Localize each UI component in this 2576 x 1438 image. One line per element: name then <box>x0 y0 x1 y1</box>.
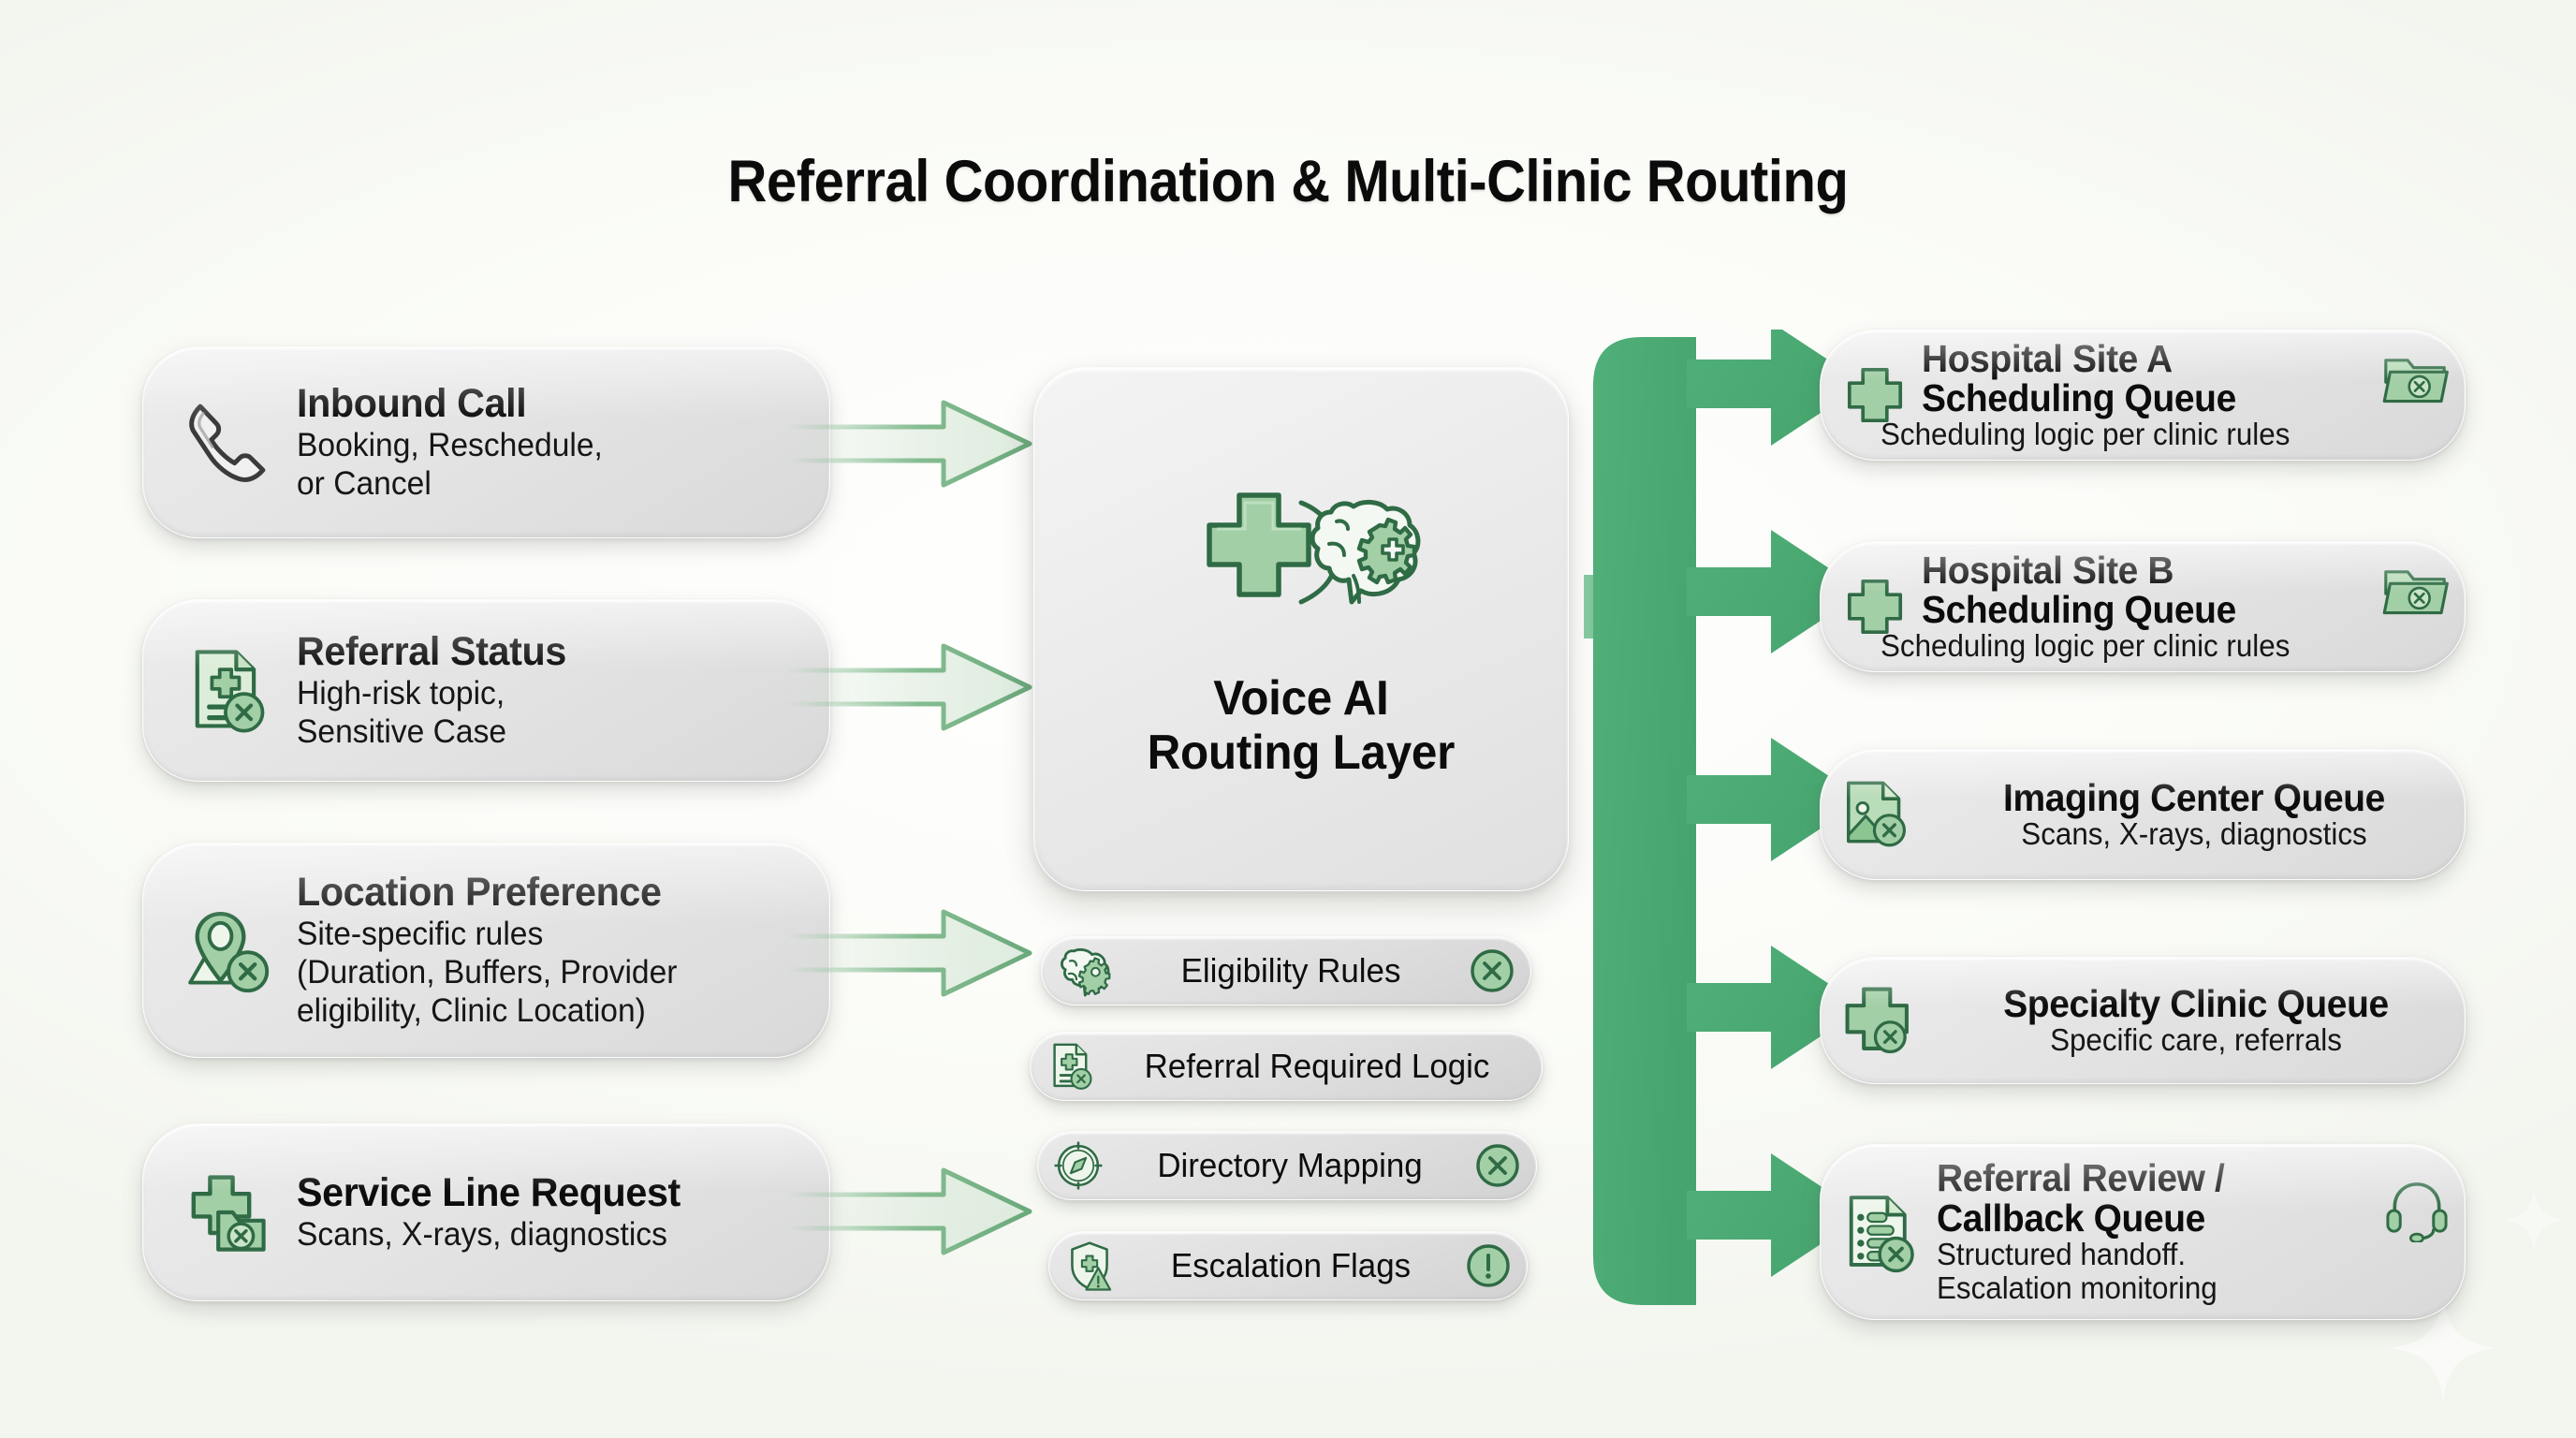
input-card-subtitle-line: eligibility, Clinic Location) <box>297 992 784 1029</box>
chip-label: Referral Required Logic <box>1114 1047 1521 1086</box>
cross-folder-x-icon <box>171 1161 282 1264</box>
input-card-subtitle-line: Sensitive Case <box>297 713 784 750</box>
output-card-referral-review-callback[interactable]: Referral Review / Callback Queue Structu… <box>1820 1144 2466 1320</box>
input-arrow-3 <box>784 901 1033 1005</box>
chip-referral-required-logic[interactable]: Referral Required Logic <box>1030 1032 1543 1101</box>
output-card-subtitle-line: Scheduling logic per clinic rules <box>1881 629 2345 663</box>
input-card-title: Inbound Call <box>297 383 784 425</box>
exclamation-circle-badge <box>1465 1242 1512 1289</box>
input-arrow-1 <box>784 391 1033 496</box>
output-card-title-line: Specialty Clinic Queue <box>1954 984 2439 1023</box>
output-card-title-line: Referral Review / <box>1937 1158 2351 1197</box>
input-card-title: Location Preference <box>297 872 784 914</box>
phone-handset-icon <box>171 392 282 493</box>
output-card-subtitle-line: Specific care, referrals <box>1954 1023 2439 1057</box>
input-card-title: Service Line Request <box>297 1172 784 1214</box>
image-document-x-icon <box>1837 775 1916 854</box>
brain-gear-icon <box>1055 942 1113 1000</box>
medical-cross-x-icon <box>1837 979 1920 1062</box>
input-card-subtitle-line: High-risk topic, <box>297 675 784 712</box>
x-circle-badge <box>1474 1142 1521 1189</box>
output-card-hospital-site-a[interactable]: Hospital Site A Scheduling Queue Schedul… <box>1820 330 2466 461</box>
folder-x-icon <box>2378 340 2452 413</box>
input-card-title: Referral Status <box>297 631 784 673</box>
input-arrow-2 <box>784 635 1033 740</box>
chip-directory-mapping[interactable]: Directory Mapping <box>1037 1131 1537 1200</box>
output-card-subtitle-line: Structured handoff. <box>1937 1238 2351 1271</box>
medical-document-x-icon <box>1044 1039 1098 1093</box>
hub-voice-ai-routing-layer[interactable]: Voice AI Routing Layer <box>1033 367 1569 891</box>
input-card-subtitle-line: Site-specific rules <box>297 916 784 952</box>
chip-label: Directory Mapping <box>1120 1146 1460 1185</box>
checklist-document-x-icon <box>1837 1189 1924 1275</box>
output-card-specialty-clinic[interactable]: Specialty Clinic Queue Specific care, re… <box>1820 957 2466 1084</box>
output-card-subtitle-line: Scans, X-rays, diagnostics <box>1950 817 2439 851</box>
output-card-title-line: Callback Queue <box>1937 1198 2351 1238</box>
chip-escalation-flags[interactable]: Escalation Flags <box>1048 1231 1528 1300</box>
shield-alert-icon <box>1062 1239 1117 1293</box>
output-card-title-line: Hospital Site B <box>1922 550 2347 590</box>
page-title: Referral Coordination & Multi-Clinic Rou… <box>103 148 2473 215</box>
hub-label-line: Routing Layer <box>1148 726 1455 780</box>
input-card-subtitle-line: Scans, X-rays, diagnostics <box>297 1216 784 1253</box>
chip-eligibility-rules[interactable]: Eligibility Rules <box>1041 936 1531 1005</box>
input-card-subtitle-line: (Duration, Buffers, Provider <box>297 954 784 990</box>
x-circle-badge <box>1469 947 1515 994</box>
output-card-title-line: Imaging Center Queue <box>1950 778 2439 817</box>
output-card-title-line: Scheduling Queue <box>1922 590 2347 629</box>
input-card-service-line-request[interactable]: Service Line Request Scans, X-rays, diag… <box>142 1123 830 1301</box>
output-card-imaging-center[interactable]: Imaging Center Queue Scans, X-rays, diag… <box>1820 749 2466 880</box>
input-card-inbound-call[interactable]: Inbound Call Booking, Reschedule, or Can… <box>142 346 830 538</box>
hub-label: Voice AI Routing Layer <box>1148 672 1455 779</box>
output-card-subtitle-line: Scheduling logic per clinic rules <box>1881 418 2345 451</box>
chip-label: Escalation Flags <box>1131 1246 1450 1285</box>
output-card-title-line: Hospital Site A <box>1922 339 2347 378</box>
map-pin-x-icon <box>171 900 282 1001</box>
headset-icon <box>2382 1173 2452 1242</box>
input-card-referral-status[interactable]: Referral Status High-risk topic, Sensiti… <box>142 599 830 782</box>
output-card-hospital-site-b[interactable]: Hospital Site B Scheduling Queue Schedul… <box>1820 541 2466 672</box>
input-card-location-preference[interactable]: Location Preference Site-specific rules … <box>142 843 830 1058</box>
compass-icon <box>1051 1138 1105 1193</box>
chip-label: Eligibility Rules <box>1127 951 1454 990</box>
output-card-subtitle-line: Escalation monitoring <box>1937 1271 2351 1305</box>
hub-label-line: Voice AI <box>1148 672 1455 726</box>
input-arrow-4 <box>784 1159 1033 1264</box>
input-card-subtitle-line: Booking, Reschedule, <box>297 427 784 463</box>
medical-cross-ai-brain-icon <box>1161 471 1442 644</box>
input-card-subtitle-line: or Cancel <box>297 465 784 502</box>
medical-document-x-icon <box>171 642 282 740</box>
sparkle-decoration-right <box>2501 1187 2567 1253</box>
output-card-title-line: Scheduling Queue <box>1922 378 2347 418</box>
folder-x-icon <box>2378 551 2452 624</box>
